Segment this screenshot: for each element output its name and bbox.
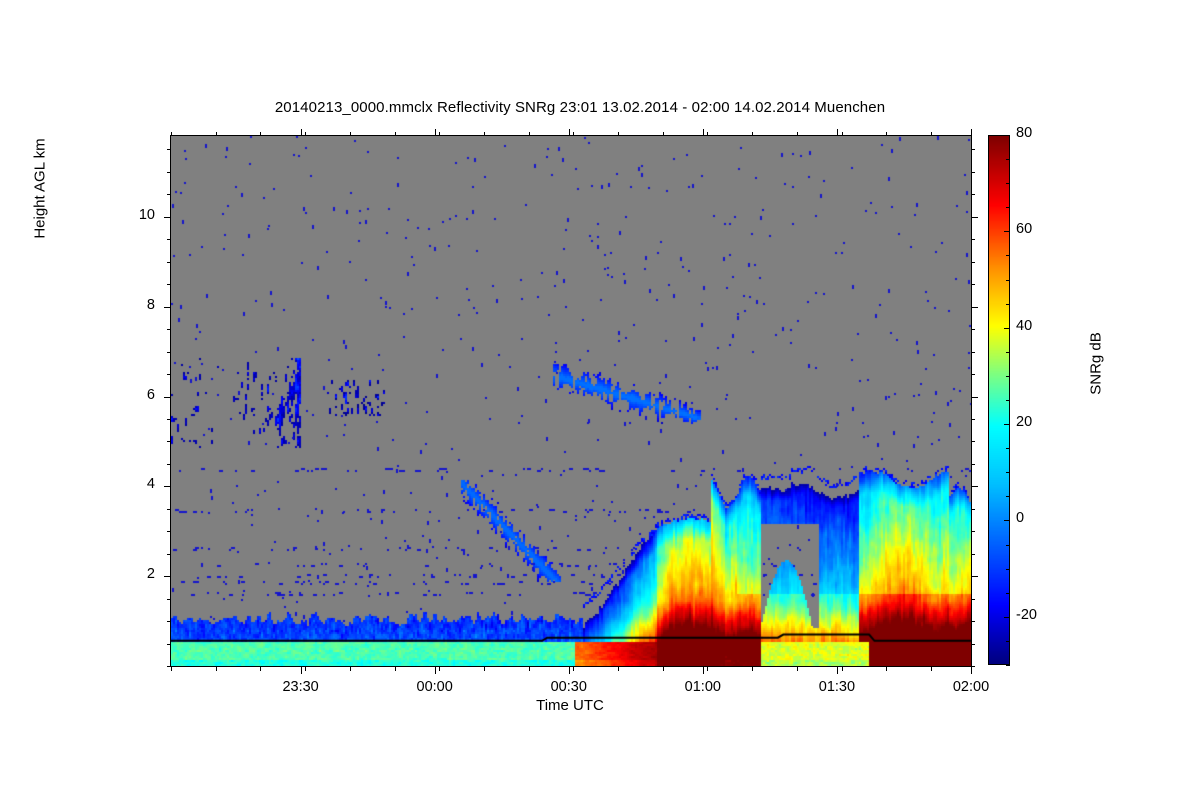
colorbar-minor-tick — [1006, 545, 1010, 546]
x-axis-minor-tick — [707, 667, 708, 671]
colorbar-major-tick — [1004, 424, 1010, 425]
y-axis-major-tick — [971, 397, 978, 398]
y-axis-minor-tick — [971, 194, 975, 195]
y-axis-minor-tick — [971, 666, 975, 667]
x-axis-minor-tick — [171, 667, 172, 671]
y-axis-minor-tick — [971, 531, 975, 532]
colorbar-tick-label-2: 20 — [1016, 414, 1032, 430]
colorbar: -20020406080 — [988, 135, 1010, 665]
y-axis-minor-tick — [167, 531, 171, 532]
y-axis-tick-label-2: 6 — [95, 387, 155, 403]
y-axis-tick-label-4: 10 — [95, 207, 155, 223]
x-axis-major-tick — [971, 129, 972, 136]
y-axis-minor-tick — [167, 239, 171, 240]
colorbar-minor-tick — [1006, 569, 1010, 570]
reflectivity-heatmap — [171, 136, 971, 666]
x-axis-minor-tick — [484, 667, 485, 671]
colorbar-minor-tick — [1006, 352, 1010, 353]
x-axis-major-tick — [435, 129, 436, 136]
y-axis-minor-tick — [167, 172, 171, 173]
x-axis-minor-tick — [797, 132, 798, 136]
colorbar-minor-tick — [1006, 376, 1010, 377]
x-axis-minor-tick — [484, 132, 485, 136]
colorbar-minor-tick — [1006, 207, 1010, 208]
x-axis-minor-tick — [395, 132, 396, 136]
y-axis-tick-label-0: 2 — [95, 566, 155, 582]
x-axis-minor-tick — [395, 667, 396, 671]
y-axis-minor-tick — [167, 441, 171, 442]
y-axis-title: Height AGL km — [32, 74, 49, 304]
x-axis-minor-tick — [931, 667, 932, 671]
y-axis-tick-label-1: 4 — [95, 476, 155, 492]
x-axis-minor-tick — [350, 667, 351, 671]
y-axis-major-tick — [971, 486, 978, 487]
x-axis-tick-label-1: 00:00 — [375, 679, 495, 695]
page-title: 20140213_0000.mmclx Reflectivity SNRg 23… — [0, 99, 1160, 116]
colorbar-major-tick — [1004, 520, 1010, 521]
y-axis-minor-tick — [167, 644, 171, 645]
x-axis-minor-tick — [842, 667, 843, 671]
x-axis-major-tick — [569, 129, 570, 136]
y-axis-minor-tick — [971, 441, 975, 442]
colorbar-minor-tick — [1006, 593, 1010, 594]
x-axis-major-tick — [301, 129, 302, 136]
x-axis-major-tick — [703, 129, 704, 136]
y-axis-minor-tick — [167, 621, 171, 622]
colorbar-minor-tick — [1006, 641, 1010, 642]
x-axis-major-tick — [301, 667, 302, 674]
x-axis-minor-tick — [573, 132, 574, 136]
colorbar-tick-label-4: 60 — [1016, 221, 1032, 237]
x-axis-minor-tick — [618, 667, 619, 671]
x-axis-minor-tick — [216, 667, 217, 671]
y-axis-minor-tick — [167, 374, 171, 375]
y-axis-major-tick — [164, 576, 171, 577]
radar-plot-area: 23:3000:0000:3001:0001:3002:00 246810 — [170, 135, 972, 667]
y-axis-minor-tick — [167, 329, 171, 330]
x-axis-minor-tick — [707, 132, 708, 136]
x-axis-minor-tick — [171, 132, 172, 136]
x-axis-minor-tick — [260, 667, 261, 671]
colorbar-minor-tick — [1006, 183, 1010, 184]
x-axis-major-tick — [435, 667, 436, 674]
y-axis-major-tick — [164, 307, 171, 308]
colorbar-tick-label-1: 0 — [1016, 510, 1024, 526]
y-axis-major-tick — [971, 217, 978, 218]
y-axis-minor-tick — [971, 262, 975, 263]
y-axis-minor-tick — [971, 554, 975, 555]
colorbar-minor-tick — [1006, 255, 1010, 256]
x-axis-minor-tick — [439, 667, 440, 671]
y-axis-minor-tick — [167, 599, 171, 600]
x-axis-title: Time UTC — [170, 697, 970, 714]
x-axis-minor-tick — [529, 132, 530, 136]
y-axis-major-tick — [164, 217, 171, 218]
x-axis-minor-tick — [305, 132, 306, 136]
y-axis-minor-tick — [971, 644, 975, 645]
x-axis-minor-tick — [797, 667, 798, 671]
y-axis-minor-tick — [971, 509, 975, 510]
x-axis-tick-label-4: 01:30 — [777, 679, 897, 695]
colorbar-minor-tick — [1006, 159, 1010, 160]
x-axis-minor-tick — [260, 132, 261, 136]
y-axis-minor-tick — [167, 352, 171, 353]
colorbar-major-tick — [1004, 328, 1010, 329]
x-axis-minor-tick — [663, 667, 664, 671]
colorbar-tick-label-5: 80 — [1016, 125, 1032, 141]
colorbar-major-tick — [1004, 231, 1010, 232]
x-axis-minor-tick — [305, 667, 306, 671]
x-axis-minor-tick — [439, 132, 440, 136]
x-axis-minor-tick — [752, 132, 753, 136]
x-axis-major-tick — [837, 667, 838, 674]
y-axis-minor-tick — [971, 329, 975, 330]
y-axis-minor-tick — [971, 172, 975, 173]
colorbar-tick-label-0: -20 — [1016, 607, 1037, 623]
x-axis-major-tick — [837, 129, 838, 136]
colorbar-minor-tick — [1006, 665, 1010, 666]
x-axis-tick-label-3: 01:00 — [643, 679, 763, 695]
colorbar-minor-tick — [1006, 496, 1010, 497]
x-axis-minor-tick — [886, 132, 887, 136]
y-axis-minor-tick — [971, 464, 975, 465]
colorbar-major-tick — [1004, 617, 1010, 618]
colorbar-minor-tick — [1006, 448, 1010, 449]
x-axis-minor-tick — [216, 132, 217, 136]
y-axis-major-tick — [971, 307, 978, 308]
y-axis-minor-tick — [971, 352, 975, 353]
x-axis-tick-label-5: 02:00 — [911, 679, 1031, 695]
radar-figure: 20140213_0000.mmclx Reflectivity SNRg 23… — [0, 0, 1200, 800]
colorbar-minor-tick — [1006, 472, 1010, 473]
y-axis-minor-tick — [167, 509, 171, 510]
x-axis-tick-label-0: 23:30 — [241, 679, 361, 695]
colorbar-minor-tick — [1006, 280, 1010, 281]
x-axis-major-tick — [569, 667, 570, 674]
y-axis-minor-tick — [971, 599, 975, 600]
y-axis-major-tick — [164, 486, 171, 487]
colorbar-title: SNRg dB — [1088, 264, 1105, 464]
x-axis-minor-tick — [573, 667, 574, 671]
x-axis-minor-tick — [931, 132, 932, 136]
y-axis-minor-tick — [971, 621, 975, 622]
x-axis-tick-label-2: 00:30 — [509, 679, 629, 695]
x-axis-minor-tick — [886, 667, 887, 671]
x-axis-minor-tick — [350, 132, 351, 136]
y-axis-minor-tick — [971, 239, 975, 240]
y-axis-minor-tick — [167, 666, 171, 667]
y-axis-minor-tick — [167, 464, 171, 465]
y-axis-minor-tick — [167, 554, 171, 555]
colorbar-minor-tick — [1006, 400, 1010, 401]
y-axis-tick-label-3: 8 — [95, 297, 155, 313]
y-axis-minor-tick — [971, 419, 975, 420]
y-axis-major-tick — [164, 397, 171, 398]
y-axis-minor-tick — [167, 149, 171, 150]
x-axis-minor-tick — [663, 132, 664, 136]
y-axis-minor-tick — [167, 262, 171, 263]
colorbar-minor-tick — [1006, 304, 1010, 305]
x-axis-minor-tick — [618, 132, 619, 136]
colorbar-major-tick — [1004, 135, 1010, 136]
x-axis-minor-tick — [842, 132, 843, 136]
y-axis-minor-tick — [971, 374, 975, 375]
y-axis-major-tick — [971, 576, 978, 577]
colorbar-tick-label-3: 40 — [1016, 318, 1032, 334]
y-axis-minor-tick — [167, 194, 171, 195]
x-axis-minor-tick — [752, 667, 753, 671]
y-axis-minor-tick — [167, 284, 171, 285]
y-axis-minor-tick — [971, 149, 975, 150]
x-axis-minor-tick — [529, 667, 530, 671]
y-axis-minor-tick — [167, 419, 171, 420]
x-axis-major-tick — [703, 667, 704, 674]
x-axis-major-tick — [971, 667, 972, 674]
y-axis-minor-tick — [971, 284, 975, 285]
